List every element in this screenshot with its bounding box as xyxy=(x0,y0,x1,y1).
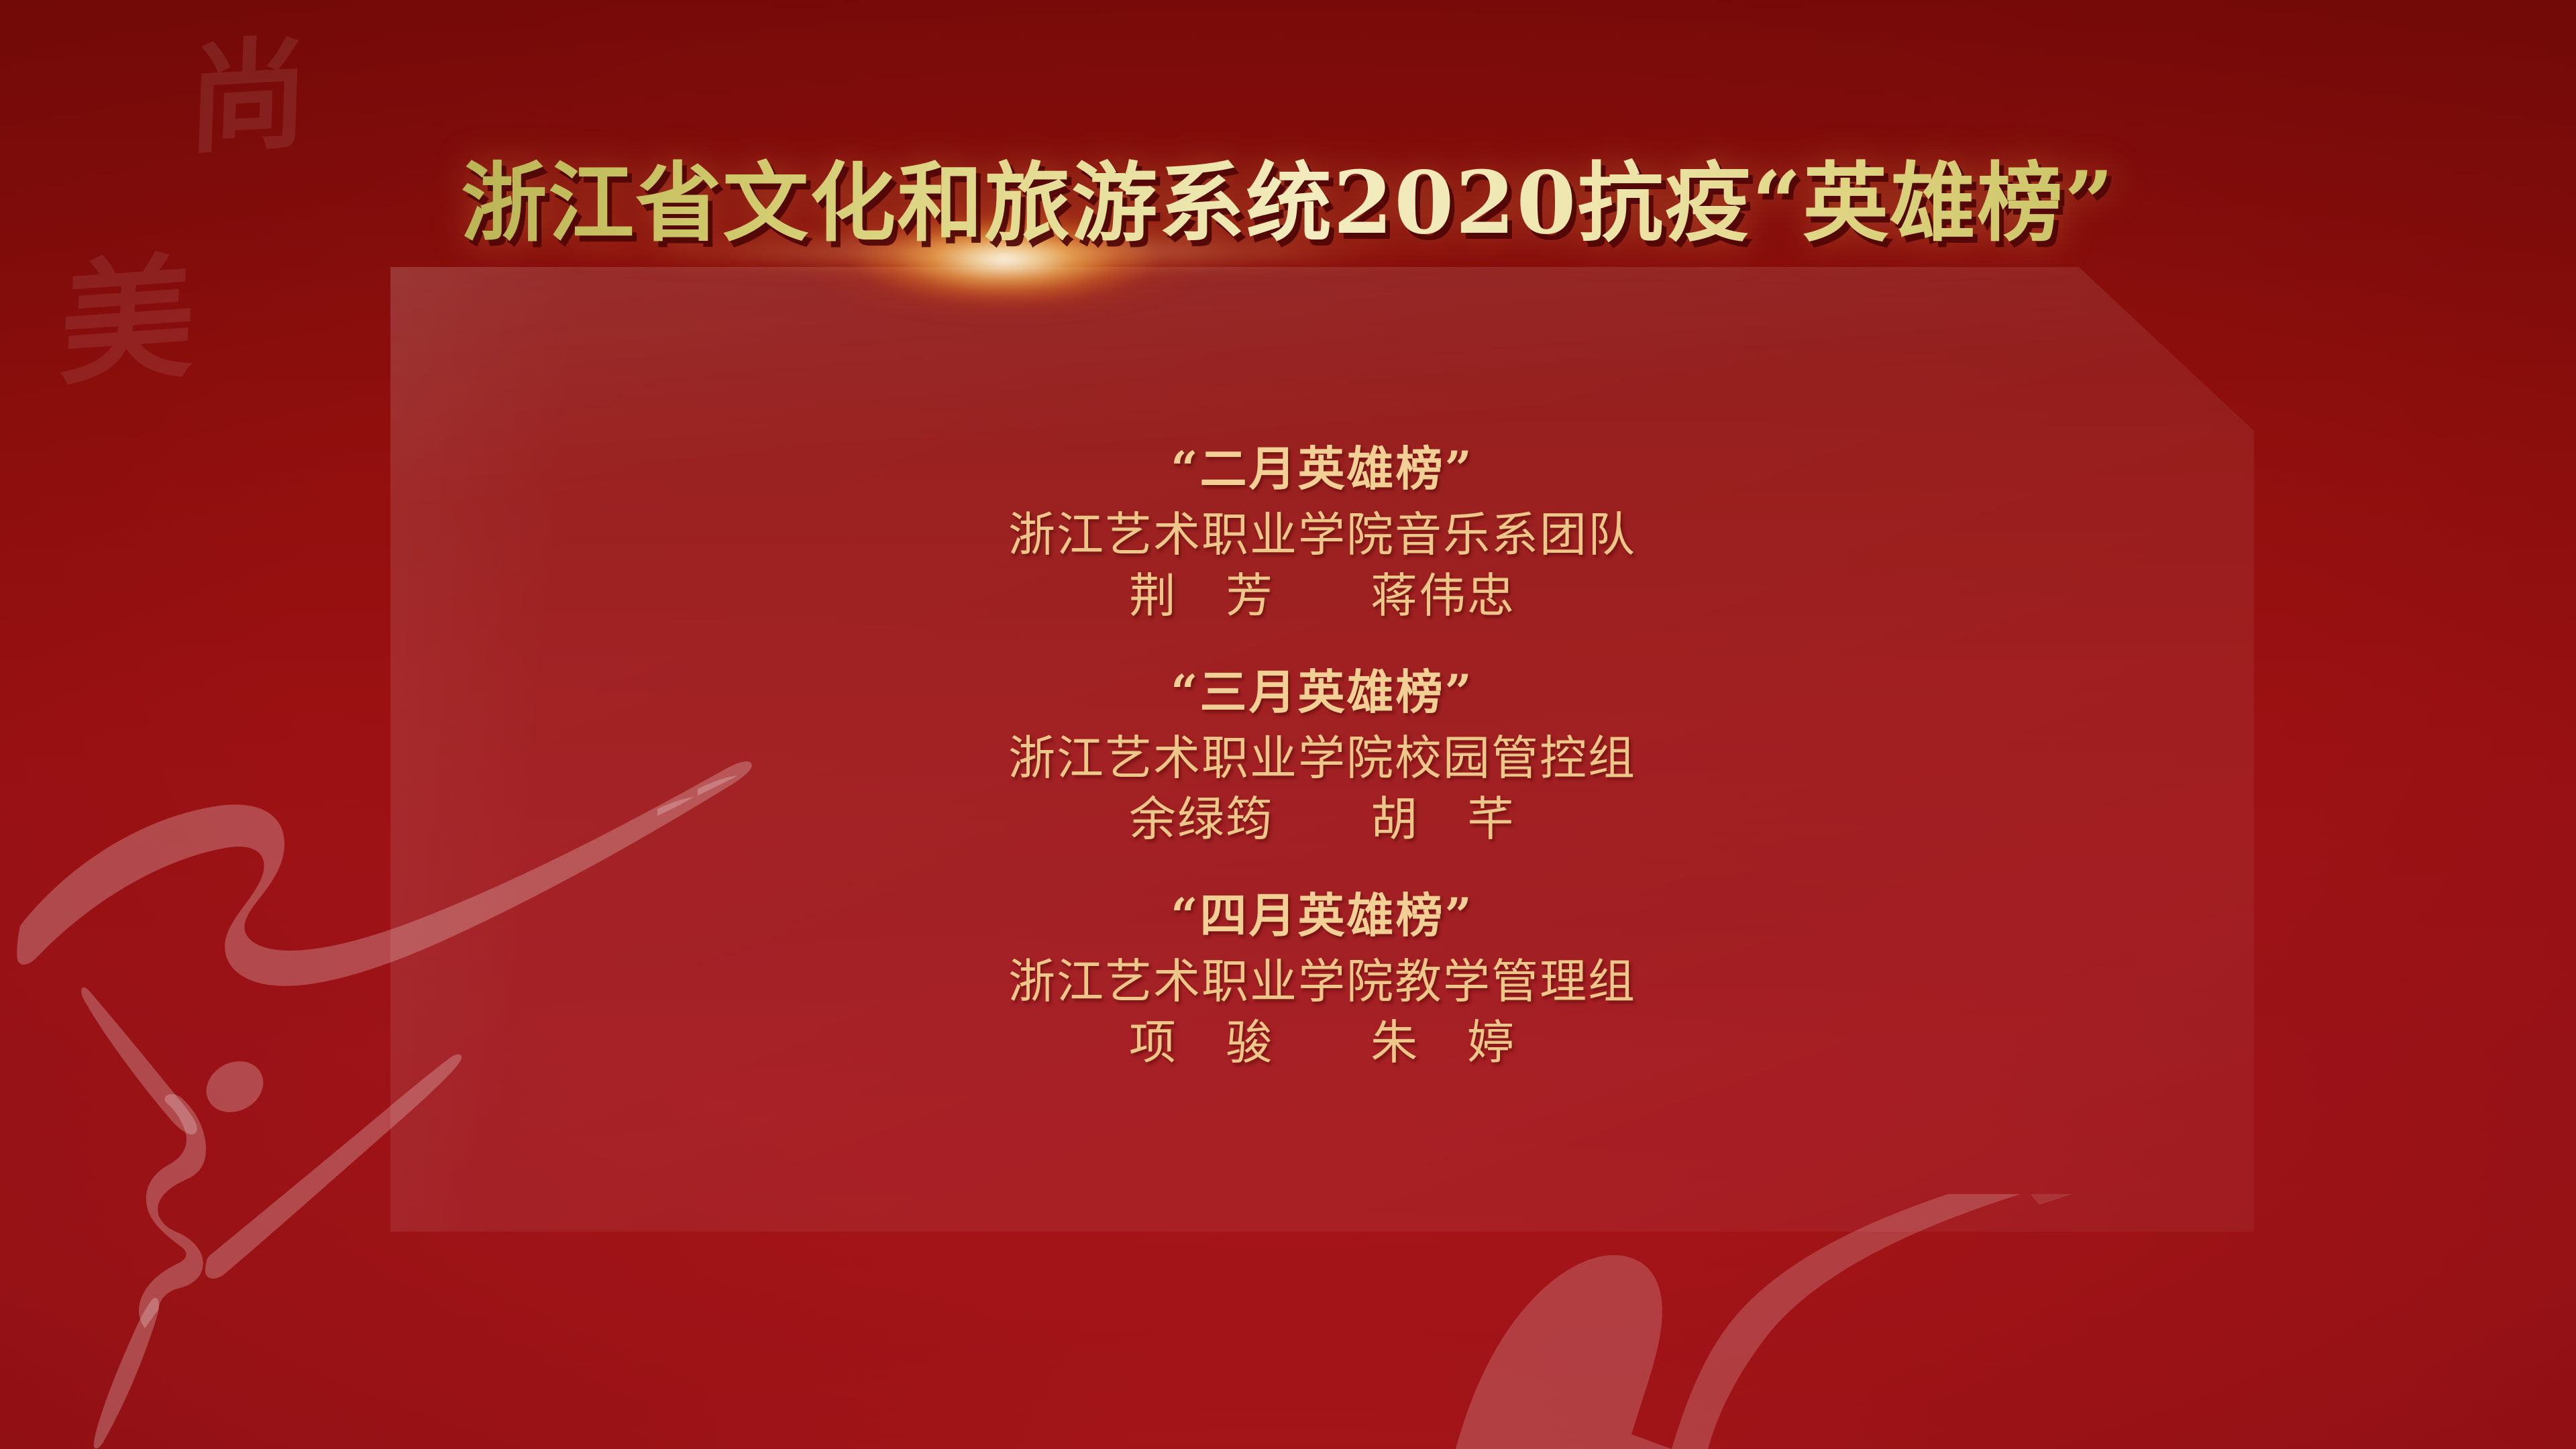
award-list: “二月英雄榜” 浙江艺术职业学院音乐系团队 荆 芳 蒋伟忠 “三月英雄榜” 浙江… xyxy=(390,267,2254,1232)
award-month-label: “四月英雄榜” xyxy=(390,885,2254,946)
award-month-label: “三月英雄榜” xyxy=(390,661,2254,722)
award-person-names: 项 骏 朱 婷 xyxy=(390,1012,2254,1073)
page-title: 浙江省文化和旅游系统2020抗疫“英雄榜” xyxy=(461,158,2115,248)
award-team-name: 浙江艺术职业学院音乐系团队 xyxy=(390,504,2254,566)
award-block: “三月英雄榜” 浙江艺术职业学院校园管控组 余绿筠 胡 芊 xyxy=(390,661,2254,850)
award-person-names: 余绿筠 胡 芊 xyxy=(390,789,2254,850)
presentation-slide: 尚 美 xyxy=(0,0,2576,1449)
award-person-names: 荆 芳 蒋伟忠 xyxy=(390,566,2254,627)
award-month-label: “二月英雄榜” xyxy=(390,438,2254,499)
award-team-name: 浙江艺术职业学院校园管控组 xyxy=(390,728,2254,789)
award-team-name: 浙江艺术职业学院教学管理组 xyxy=(390,951,2254,1012)
award-block: “四月英雄榜” 浙江艺术职业学院教学管理组 项 骏 朱 婷 xyxy=(390,885,2254,1073)
award-block: “二月英雄榜” 浙江艺术职业学院音乐系团队 荆 芳 蒋伟忠 xyxy=(390,438,2254,627)
